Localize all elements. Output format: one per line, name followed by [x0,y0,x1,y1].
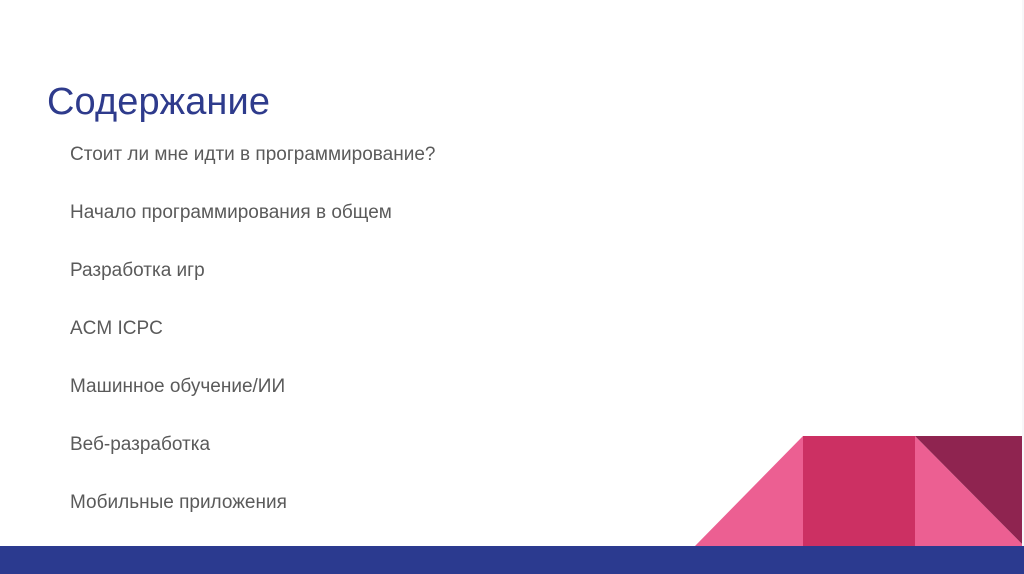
list-item[interactable]: ACM ICPC [70,317,710,375]
slide: Содержание Стоит ли мне идти в программи… [0,0,1024,574]
list-item[interactable]: Веб-разработка [70,433,710,491]
pink-chevron-corner-graphic [690,430,1024,550]
list-item[interactable]: Начало программирования в общем [70,201,710,259]
table-of-contents-list: Стоит ли мне идти в программирование? На… [70,143,710,549]
blue-footer-bar [0,546,1024,574]
list-item[interactable]: Мобильные приложения [70,491,710,549]
list-item[interactable]: Разработка игр [70,259,710,317]
list-item[interactable]: Машинное обучение/ИИ [70,375,710,433]
list-item[interactable]: Стоит ли мне идти в программирование? [70,143,710,201]
page-title: Содержание [47,79,270,125]
